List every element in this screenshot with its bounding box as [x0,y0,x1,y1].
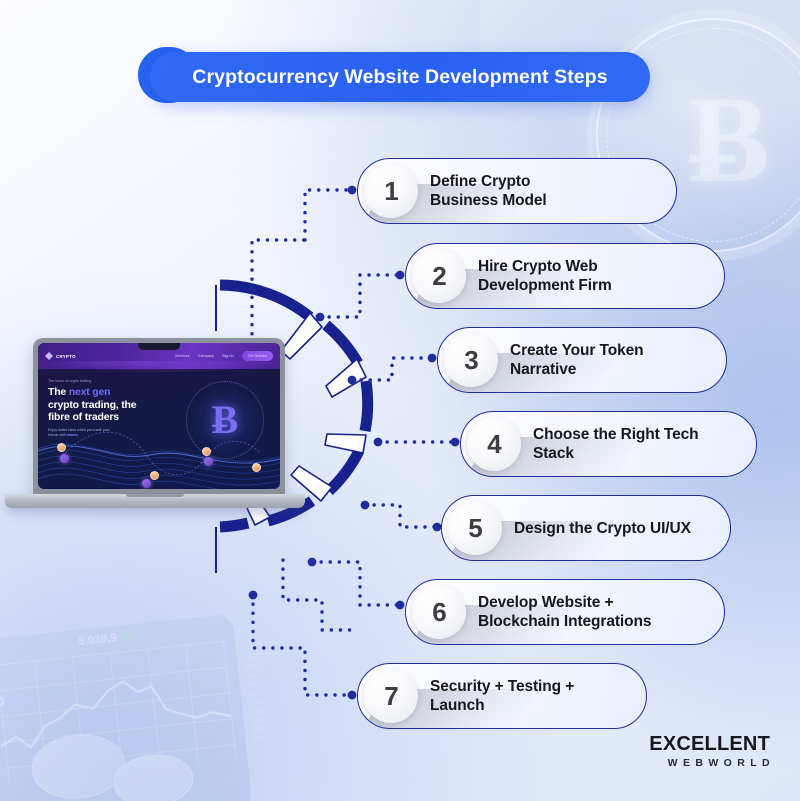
chart-y-axis-ticks: 7000 6800 6600 6400 6200 6000 5800 5600 … [244,645,268,745]
step-badge-7: 7 [364,669,418,723]
step-card-3[interactable]: 3 Create Your Token Narrative [437,327,727,393]
step-label-7: Security + Testing + Launch [430,677,630,715]
step-badge-wrap-4: 4 [467,417,521,471]
site-nav-items: Services Company Sign in Get Started [175,351,273,361]
arc-segment-3 [365,381,368,431]
step-card-7[interactable]: 7 Security + Testing + Launch [357,663,647,729]
step-card-6[interactable]: 6 Develop Website + Blockchain Integrati… [405,579,725,645]
brand-logo: EXCELLENT WEBWORLD [649,733,770,769]
laptop-notch [138,343,180,350]
headline-highlight: next gen [69,386,111,398]
site-logo-text: CRYPTO [56,354,76,359]
wave-node-tag-1 [57,443,66,452]
connector-step-1-horizontal [305,190,352,240]
site-logo: CRYPTO [45,352,76,360]
diamond-logo-icon [45,352,53,360]
step-label-6: Develop Website + Blockchain Integration… [478,593,651,631]
step-card-5[interactable]: 5 Design the Crypto UI/UX [441,495,731,561]
laptop-mockup: CRYPTO Services Company Sign in Get Star… [5,338,305,528]
step-badge-1: 1 [364,164,418,218]
step-badge-wrap-3: 3 [444,333,498,387]
headline-part-2: crypto trading, the [48,399,136,411]
headline-part-1: The [48,386,69,398]
step-label-3: Create Your Token Narrative [510,341,710,379]
site-nav-item-company: Company [198,354,214,358]
laptop-trackpad-notch [126,494,184,497]
step-badge-wrap-2: 2 [412,249,466,303]
step-badge-6: 6 [412,585,466,639]
step-number-4: 4 [487,429,500,460]
step-card-2[interactable]: 2 Hire Crypto Web Development Firm [405,243,725,309]
brand-name-primary: EXCELLENT [649,733,770,756]
step-badge-wrap-6: 6 [412,585,466,639]
laptop-screen: CRYPTO Services Company Sign in Get Star… [38,343,280,489]
step-number-5: 5 [468,513,481,544]
step-card-1[interactable]: 1 Define Crypto Business Model [357,158,677,224]
crypto-chart-photo-watermark: 5.039,9 -637 /USD 7000 6800 6600 6400 62… [0,592,288,801]
step-badge-5: 5 [448,501,502,555]
wave-node-tag-3 [202,447,211,456]
step-number-3: 3 [464,345,477,376]
bitcoin-watermark-symbol: Ƀ [687,78,766,202]
wave-node-1 [60,454,69,463]
step-label-1: Define Crypto Business Model [430,172,547,210]
step-number-2: 2 [432,261,445,292]
brand-name-secondary: WEBWORLD [649,757,775,769]
step-card-4[interactable]: 4 Choose the Right Tech Stack [460,411,757,477]
arc-tick-2 [326,359,366,397]
step-badge-4: 4 [467,417,521,471]
page-title-text: Cryptocurrency Website Development Steps [192,66,607,89]
wave-node-2 [142,479,151,488]
wave-node-3 [204,457,213,466]
step-label-5: Design the Crypto UI/UX [514,519,691,538]
wave-lines [38,427,280,489]
step-badge-wrap-1: 1 [364,164,418,218]
step-badge-3: 3 [444,333,498,387]
step-number-6: 6 [432,597,445,628]
arc-segment-1 [220,285,310,317]
step-badge-2: 2 [412,249,466,303]
infographic-canvas: Ƀ 5.039,9 -637 /USD 7000 6800 6600 6400 … [0,0,800,801]
site-nav-item-services: Services [175,354,190,358]
site-hero-kicker: The future of crypto trading [48,379,280,383]
site-wave-graphic [38,427,280,489]
arc-segment-4 [329,451,359,491]
site-cta-button: Get Started [242,351,273,361]
page-title: Cryptocurrency Website Development Steps [150,52,650,102]
step-label-2: Hire Crypto Web Development Firm [478,257,612,295]
step-label-4: Choose the Right Tech Stack [533,425,740,463]
wave-node-tag-2 [150,471,159,480]
headline-part-3: fibre of traders [48,411,119,423]
site-nav-item-signin: Sign in [222,354,234,358]
wave-node-tag-4 [252,463,261,472]
laptop-base [5,494,305,508]
chart-delta: -637 [120,629,144,643]
step-number-7: 7 [384,681,397,712]
step-badge-wrap-5: 5 [448,501,502,555]
step-badge-wrap-7: 7 [364,669,418,723]
laptop-lid: CRYPTO Services Company Sign in Get Star… [33,338,285,496]
arc-segment-2 [326,325,358,363]
arc-tick-3 [325,434,366,453]
step-number-1: 1 [384,176,397,207]
